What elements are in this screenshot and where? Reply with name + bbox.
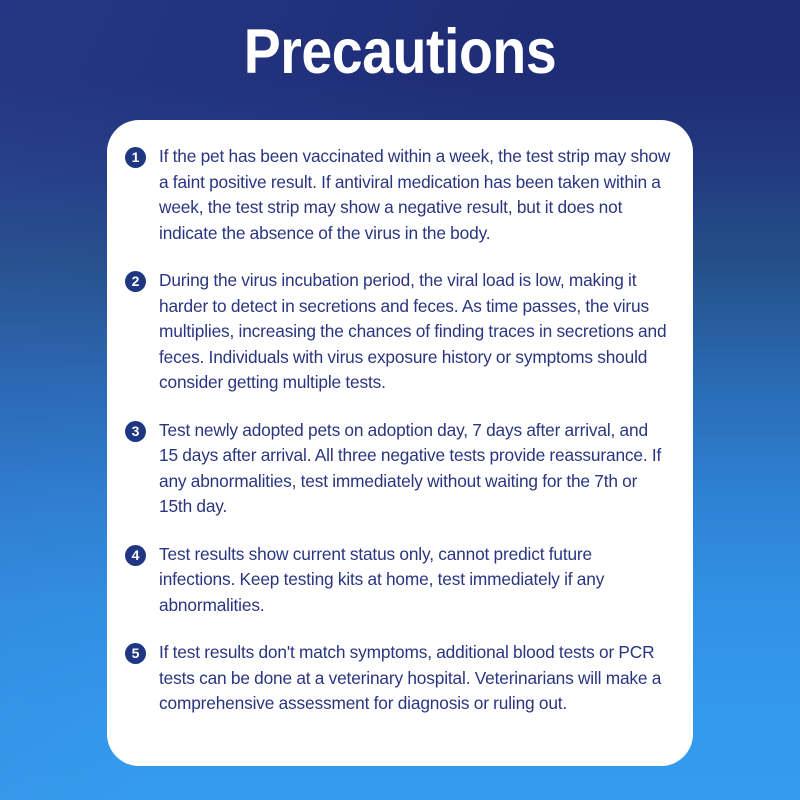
precautions-list: 1 If the pet has been vaccinated within … (125, 144, 671, 717)
precautions-poster: Precautions 1 If the pet has been vaccin… (0, 0, 800, 800)
list-item: 4 Test results show current status only,… (125, 542, 671, 619)
precautions-card: 1 If the pet has been vaccinated within … (107, 120, 693, 766)
page-title: Precautions (48, 14, 752, 90)
list-item-number-badge: 3 (125, 421, 146, 442)
list-item: 1 If the pet has been vaccinated within … (125, 144, 671, 246)
list-item-text: If test results don't match symptoms, ad… (159, 642, 661, 713)
list-item-text: Test results show current status only, c… (159, 544, 604, 615)
list-item: 2 During the virus incubation period, th… (125, 268, 671, 396)
list-item-text: During the virus incubation period, the … (159, 270, 666, 392)
list-item-number-badge: 4 (125, 545, 146, 566)
list-item-text: If the pet has been vaccinated within a … (159, 146, 670, 243)
list-item: 3 Test newly adopted pets on adoption da… (125, 418, 671, 520)
list-item: 5 If test results don't match symptoms, … (125, 640, 671, 717)
list-item-number-badge: 5 (125, 643, 146, 664)
list-item-text: Test newly adopted pets on adoption day,… (159, 420, 661, 517)
list-item-number-badge: 2 (125, 271, 146, 292)
list-item-number-badge: 1 (125, 147, 146, 168)
